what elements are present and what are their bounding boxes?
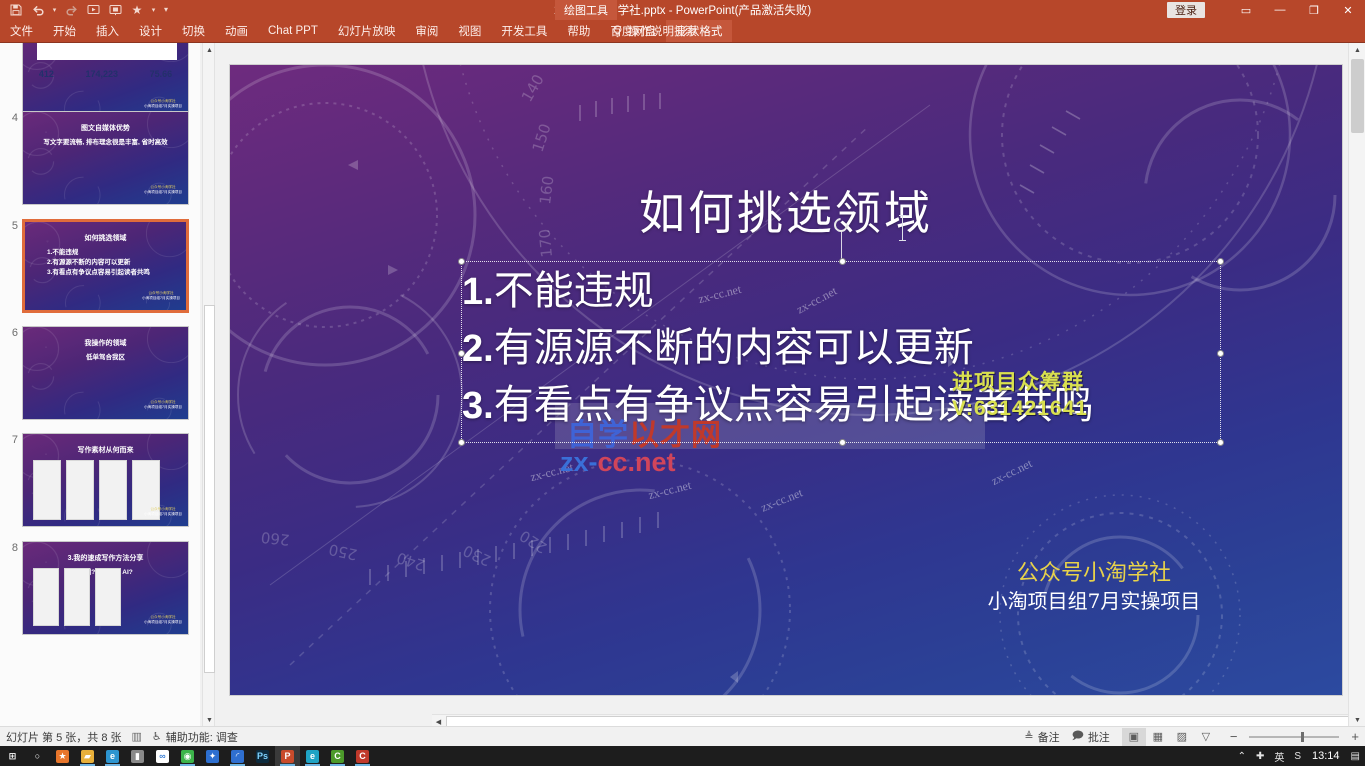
notes-button[interactable]: ≜ 备注	[1024, 729, 1059, 745]
slide-thumbnail-pane[interactable]: 3成果展示412174,22375.66公众号小淘学社小淘项目组7月实操项目4图…	[0, 43, 200, 727]
zoom-out-button[interactable]: −	[1230, 729, 1238, 744]
thumbnail-body: 412174,22375.66	[23, 68, 188, 82]
slide-footer-subtitle[interactable]: 小淘项目组7月实操项目	[894, 585, 1294, 614]
status-bar: 幻灯片 第 5 张，共 8 张 ▥ ♿ 辅助功能: 调查 ≜ 备注 🗩 批注 ▣…	[0, 726, 1365, 746]
ribbon-tab-0[interactable]: 文件	[0, 20, 43, 42]
ribbon-tab-bar: 文件开始插入设计切换动画Chat PPT幻灯片放映审阅视图开发工具帮助百度网盘形…	[0, 20, 1365, 42]
photoshop-icon[interactable]: Ps	[250, 746, 275, 766]
windows-taskbar: ⊞○★▰e▮∞◉✦◜PsPeCC ⌃✚英S 13:14 ▤	[0, 746, 1365, 766]
thumbnail-title: 图文自媒体优势	[23, 123, 188, 133]
quick-access-toolbar: ▾ ★ ▾ ▾	[6, 0, 172, 20]
right-scroll-down-icon[interactable]: ▼	[1349, 713, 1365, 727]
svg-text:220: 220	[516, 526, 550, 556]
svg-text:230: 230	[460, 541, 494, 569]
svg-text:140: 140	[518, 71, 548, 105]
normal-view-button[interactable]: ▣	[1122, 728, 1146, 746]
zoom-slider-knob[interactable]	[1301, 732, 1304, 742]
app-red-icon-glyph: C	[356, 750, 369, 763]
chrome-browser-icon[interactable]: ◉	[175, 746, 200, 766]
ribbon-display-options-icon[interactable]: ▭	[1229, 0, 1263, 20]
thumbnail-line: 412	[39, 68, 54, 82]
ribbon-tab-9[interactable]: 视图	[448, 20, 491, 42]
slide-thumbnail-6[interactable]: 6我操作的领域低单驾合我区公众号小淘学社小淘项目组7月实操项目	[0, 326, 200, 420]
view-buttons: ▣▦▨▽	[1122, 728, 1218, 746]
usb-device-icon[interactable]: ▮	[125, 746, 150, 766]
slide-title-text[interactable]: 如何挑选领域	[230, 177, 1342, 243]
zoom-slider[interactable]	[1249, 736, 1339, 738]
ribbon-tab-1[interactable]: 开始	[43, 20, 86, 42]
wechat-icon-glyph: ✦	[206, 750, 219, 763]
undo-dropdown-icon[interactable]: ▾	[50, 1, 59, 19]
app-blue-icon-glyph: ◜	[231, 750, 244, 763]
slide-footer-brand[interactable]: 公众号小淘学社	[894, 555, 1294, 587]
slide-sorter-button[interactable]: ▦	[1146, 728, 1170, 746]
text-cursor	[902, 215, 903, 241]
thumbnail-line: 75.66	[150, 68, 173, 82]
handle-top-center[interactable]	[839, 258, 846, 265]
thumbnail-line: 低单驾合我区	[23, 353, 188, 363]
app-cloud-icon[interactable]: ∞	[150, 746, 175, 766]
taskview-icon-glyph: ★	[56, 750, 69, 763]
thumbnail-preview[interactable]: 写作素材从何而来公众号小淘学社小淘项目组7月实操项目	[22, 433, 189, 527]
start-from-current-icon[interactable]	[105, 1, 125, 19]
thumbnail-line: 2.有源源不断的内容可以更新	[47, 258, 187, 268]
slide-canvas[interactable]: 140 150 160 170 260 250 240 230 220	[230, 65, 1342, 695]
minimize-button[interactable]: —	[1263, 0, 1297, 20]
taskview-icon[interactable]: ★	[50, 746, 75, 766]
svg-text:250: 250	[327, 540, 359, 564]
watermark-brand-bottom: zx-cc.net	[560, 447, 676, 478]
layout-icon[interactable]: ▥	[132, 730, 142, 743]
file-explorer-icon-glyph: ▰	[81, 750, 94, 763]
slide-thumbnail-3[interactable]: 3成果展示412174,22375.66公众号小淘学社小淘项目组7月实操项目	[0, 43, 200, 119]
sogou-input-icon[interactable]: S	[1289, 751, 1306, 762]
handle-top-right[interactable]	[1217, 258, 1224, 265]
usb-device-icon-glyph: ▮	[131, 750, 144, 763]
ribbon-tab-6[interactable]: Chat PPT	[258, 20, 328, 42]
ribbon-tab-5[interactable]: 动画	[215, 20, 258, 42]
sign-in-button[interactable]: 登录	[1167, 2, 1205, 18]
thumbnail-body: 1.不能违规2.有源源不断的内容可以更新3.有看点有争议点容易引起读者共鸣	[47, 248, 187, 278]
tell-me-search[interactable]: 操作说明搜索	[612, 20, 697, 42]
ribbon-tab-11[interactable]: 帮助	[557, 20, 600, 42]
thumbnail-footer: 公众号小淘学社小淘项目组7月实操项目	[142, 291, 180, 303]
thumbnail-footer: 公众号小淘学社小淘项目组7月实操项目	[144, 185, 182, 197]
scrollbar-thumb[interactable]	[204, 305, 215, 673]
notification-center-icon[interactable]: ▤	[1346, 751, 1365, 762]
thumbnail-preview[interactable]: 3.我的速成写作方法分享原创? 伪原创? AI?公众号小淘学社小淘项目组7月实操…	[22, 541, 189, 635]
start-from-beginning-icon[interactable]	[83, 1, 103, 19]
workspace: 3成果展示412174,22375.66公众号小淘学社小淘项目组7月实操项目4图…	[0, 42, 1365, 726]
thumbnail-body: 写文字要流畅, 排布理念很是丰富, 省时高效	[23, 138, 188, 148]
scroll-down-arrow-icon[interactable]: ▼	[203, 713, 216, 727]
thumbnail-body: 低单驾合我区	[23, 353, 188, 363]
thumbnail-preview[interactable]: 我操作的领域低单驾合我区公众号小淘学社小淘项目组7月实操项目	[22, 326, 189, 420]
tell-me-label: 操作说明搜索	[628, 23, 697, 39]
show-hidden-icons[interactable]: ⌃	[1233, 751, 1251, 762]
comments-label: 批注	[1088, 729, 1110, 745]
thumbnail-scrollbar[interactable]: ▲ ▼	[202, 43, 215, 727]
system-tray: ⌃✚英S 13:14 ▤	[1233, 746, 1365, 766]
start-button[interactable]: ⊞	[0, 746, 25, 766]
tray-icons: ⌃✚英S	[1233, 749, 1306, 764]
notes-label: 备注	[1038, 729, 1060, 745]
slide-counter[interactable]: 幻灯片 第 5 张，共 8 张	[6, 729, 122, 745]
powerpoint-window: ▾ ★ ▾ ▾ 1公众号小淘学社.pptx - PowerPoint(产品激活失…	[0, 0, 1365, 766]
scroll-up-arrow-icon[interactable]: ▲	[203, 43, 216, 57]
thumbnail-title: 3.我的速成写作方法分享	[23, 553, 188, 563]
handle-bottom-right[interactable]	[1217, 439, 1224, 446]
svg-text:260: 260	[260, 528, 290, 549]
notes-icon: ≜	[1024, 730, 1033, 743]
thumbnail-number: 6	[0, 326, 22, 420]
thumbnail-line: 3.有看点有争议点容易引起读者共鸣	[47, 268, 187, 278]
app-teal-icon-glyph: e	[306, 750, 319, 763]
slide-thumbnail-8[interactable]: 83.我的速成写作方法分享原创? 伪原创? AI?公众号小淘学社小淘项目组7月实…	[0, 541, 200, 635]
ime-language-icon[interactable]: 英	[1269, 749, 1289, 764]
thumbnail-number: 3	[0, 43, 22, 119]
app-teal-icon[interactable]: e	[300, 746, 325, 766]
thumbnail-line: 174,223	[85, 68, 118, 82]
slide-thumbnail-7[interactable]: 7写作素材从何而来公众号小淘学社小淘项目组7月实操项目	[0, 433, 200, 527]
antivirus-icon[interactable]: ✚	[1251, 751, 1269, 762]
right-scrollbar[interactable]: ▲ ▼	[1348, 43, 1365, 727]
comments-button[interactable]: 🗩 批注	[1072, 727, 1110, 746]
window-title: 1公众号小淘学社.pptx - PowerPoint(产品激活失败)	[0, 0, 1365, 20]
thumbnail-preview[interactable]: 如何挑选领域1.不能违规2.有源源不断的内容可以更新3.有看点有争议点容易引起读…	[22, 219, 189, 313]
thumbnail-number: 4	[0, 111, 22, 205]
thumbnail-preview[interactable]: 成果展示412174,22375.66公众号小淘学社小淘项目组7月实操项目	[22, 43, 189, 119]
handle-middle-left[interactable]	[458, 350, 465, 357]
accessibility-icon: ♿	[152, 730, 162, 743]
favorite-dropdown-icon[interactable]: ▾	[149, 1, 158, 19]
thumbnail-footer: 公众号小淘学社小淘项目组7月实操项目	[144, 615, 182, 627]
close-button[interactable]: ✕	[1331, 0, 1365, 20]
wechat-icon[interactable]: ✦	[200, 746, 225, 766]
accessibility-status[interactable]: ♿ 辅助功能: 调查	[152, 729, 238, 745]
edge-browser-icon-glyph: e	[106, 750, 119, 763]
handle-middle-right[interactable]	[1217, 350, 1224, 357]
handle-top-left[interactable]	[458, 258, 465, 265]
thumbnail-number: 7	[0, 433, 22, 527]
watermark-site-6: zx-cc.net	[989, 456, 1035, 489]
lightbulb-icon	[612, 25, 623, 38]
ribbon-tab-4[interactable]: 切换	[172, 20, 215, 42]
slide-editing-stage[interactable]: 140 150 160 170 260 250 240 230 220	[216, 43, 1348, 727]
accessibility-label: 辅助功能: 调查	[166, 729, 238, 745]
start-button-glyph: ⊞	[6, 750, 19, 763]
app-green-icon[interactable]: C	[325, 746, 350, 766]
ribbon-tab-10[interactable]: 开发工具	[491, 20, 557, 42]
favorite-icon[interactable]: ★	[127, 1, 147, 19]
svg-text:240: 240	[394, 548, 427, 574]
search-icon[interactable]: ○	[25, 746, 50, 766]
thumbnail-footer: 公众号小淘学社小淘项目组7月实操项目	[144, 400, 182, 412]
thumbnail-preview[interactable]: 图文自媒体优势写文字要流畅, 排布理念很是丰富, 省时高效公众号小淘学社小淘项目…	[22, 111, 189, 205]
zoom-in-button[interactable]: +	[1351, 729, 1359, 744]
thumbnail-footer: 公众号小淘学社小淘项目组7月实操项目	[144, 507, 182, 519]
thumbnail-title: 我操作的领域	[23, 338, 188, 348]
taskbar-items: ⊞○★▰e▮∞◉✦◜PsPeCC	[0, 746, 375, 766]
thumbnail-footer: 公众号小淘学社小淘项目组7月实操项目	[144, 99, 182, 111]
thumbnail-line: 1.不能违规	[47, 248, 187, 258]
handle-bottom-center[interactable]	[839, 439, 846, 446]
watermark-site-4: zx-cc.net	[647, 478, 693, 503]
powerpoint-icon[interactable]: P	[275, 746, 300, 766]
restore-button[interactable]: ❐	[1297, 0, 1331, 20]
comment-bubble-icon: 🗩	[1072, 727, 1084, 746]
thumbnail-number: 5	[0, 219, 22, 313]
ribbon-tab-8[interactable]: 审阅	[405, 20, 448, 42]
thumbnail-image-strip	[33, 568, 121, 626]
redo-icon[interactable]	[61, 1, 81, 19]
title-bar: ▾ ★ ▾ ▾ 1公众号小淘学社.pptx - PowerPoint(产品激活失…	[0, 0, 1365, 20]
right-scrollbar-thumb[interactable]	[1351, 59, 1364, 133]
selection-frame[interactable]	[461, 261, 1221, 443]
app-cloud-icon-glyph: ∞	[156, 750, 169, 763]
app-red-icon[interactable]: C	[350, 746, 375, 766]
contextual-tab-label: 绘图工具	[555, 0, 617, 20]
app-green-icon-glyph: C	[331, 750, 344, 763]
chrome-browser-icon-glyph: ◉	[181, 750, 194, 763]
slide-thumbnail-4[interactable]: 4图文自媒体优势写文字要流畅, 排布理念很是丰富, 省时高效公众号小淘学社小淘项…	[0, 111, 200, 205]
edge-browser-icon[interactable]: e	[100, 746, 125, 766]
app-blue-icon[interactable]: ◜	[225, 746, 250, 766]
ribbon-tab-3[interactable]: 设计	[129, 20, 172, 42]
taskbar-clock[interactable]: 13:14	[1306, 750, 1346, 762]
search-icon-glyph: ○	[31, 750, 44, 763]
right-scroll-up-icon[interactable]: ▲	[1349, 43, 1365, 57]
ribbon-tab-7[interactable]: 幻灯片放映	[328, 20, 406, 42]
slideshow-button[interactable]: ▽	[1194, 728, 1218, 746]
reading-view-button[interactable]: ▨	[1170, 728, 1194, 746]
thumbnail-title: 如何挑选领域	[25, 233, 186, 243]
handle-bottom-left[interactable]	[458, 439, 465, 446]
photoshop-icon-glyph: Ps	[256, 750, 269, 763]
undo-icon[interactable]	[28, 1, 48, 19]
slide-thumbnail-5[interactable]: 5如何挑选领域1.不能违规2.有源源不断的内容可以更新3.有看点有争议点容易引起…	[0, 219, 200, 313]
thumbnail-number: 8	[0, 541, 22, 635]
save-icon[interactable]	[6, 1, 26, 19]
svg-text:150: 150	[529, 121, 555, 154]
ribbon-tab-2[interactable]: 插入	[86, 20, 129, 42]
thumbnail-line: 写文字要流畅, 排布理念很是丰富, 省时高效	[23, 138, 188, 148]
window-controls: ▭ — ❐ ✕	[1229, 0, 1365, 20]
watermark-site-5: zx-cc.net	[759, 485, 805, 515]
file-explorer-icon[interactable]: ▰	[75, 746, 100, 766]
thumbnail-image-strip	[33, 460, 160, 520]
powerpoint-icon-glyph: P	[281, 750, 294, 763]
thumbnail-title: 写作素材从何而来	[23, 445, 188, 455]
customize-qat-icon[interactable]: ▾	[160, 1, 172, 19]
